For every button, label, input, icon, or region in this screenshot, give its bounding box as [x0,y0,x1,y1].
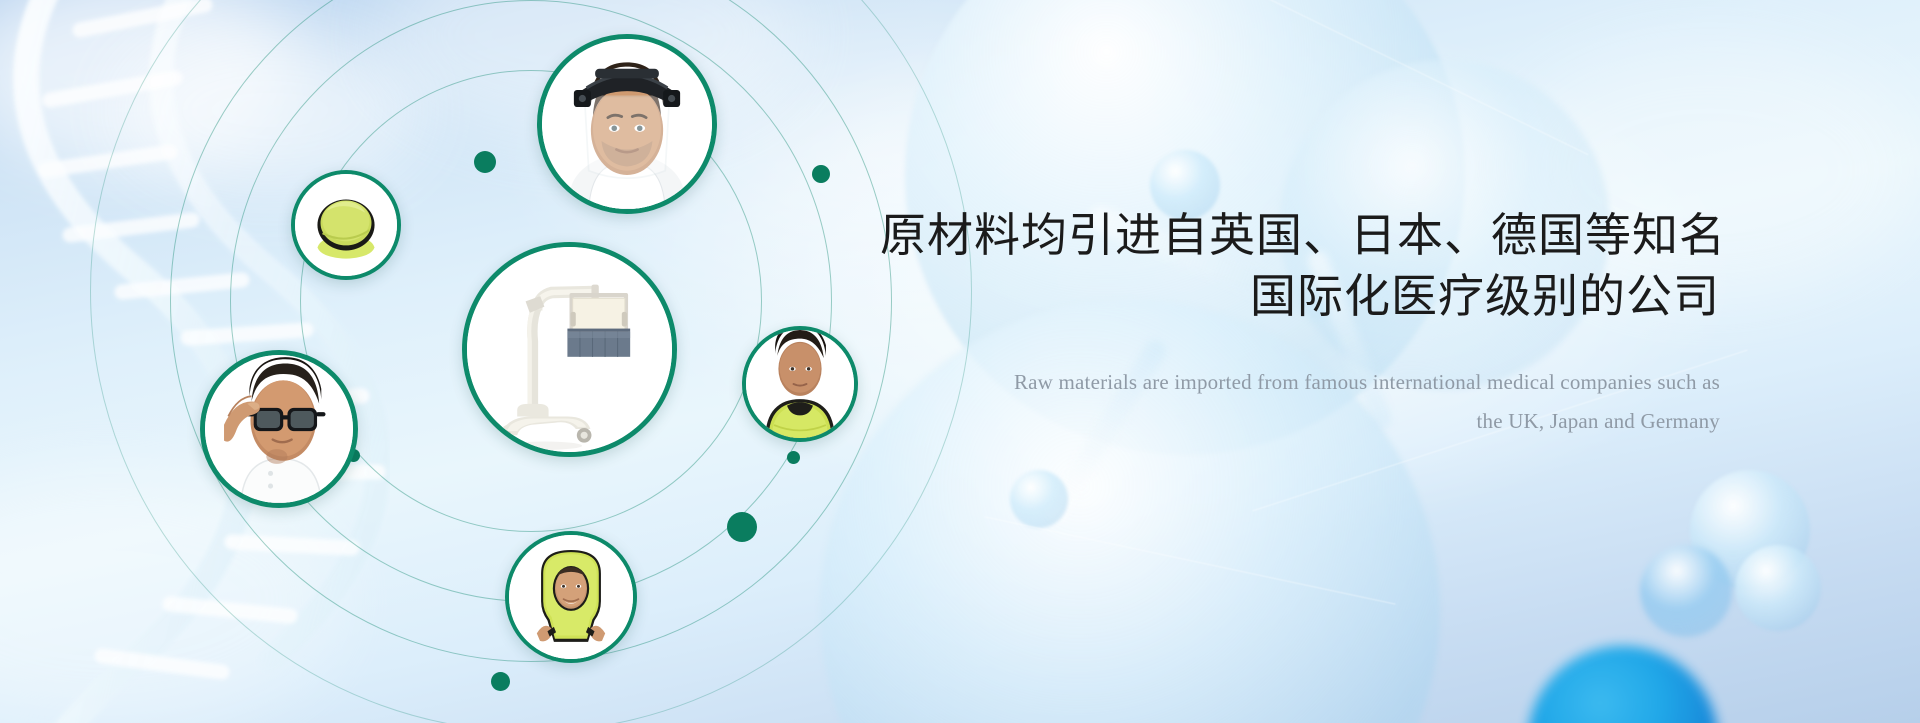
orbit-dot [491,672,510,691]
orbit-dot [727,512,757,542]
mobile-x-ray-shield-icon [467,247,672,452]
hero-copy: 原材料均引进自英国、日本、德国等知名 国际化医疗级别的公司 Raw materi… [880,205,1720,441]
lead-glasses-icon [205,355,353,503]
molecule-sphere [1640,545,1732,637]
subcopy-line-1: Raw materials are imported from famous i… [1014,370,1720,394]
subcopy-line-2: the UK, Japan and Germany [880,402,1720,441]
blue-accent-orb [1528,646,1718,723]
subcopy: Raw materials are imported from famous i… [880,363,1720,441]
orbit-dot [474,151,496,173]
molecule-sphere [1010,470,1068,528]
face-shield-mask-icon [542,39,712,209]
orbit-dot [787,451,800,464]
molecule-sphere [1690,470,1810,590]
background-hairline [1202,0,1589,155]
molecule-sphere [1735,545,1821,631]
headline-line-1: 原材料均引进自英国、日本、德国等知名 [880,209,1726,261]
protective-hood-icon [509,535,633,659]
headline: 原材料均引进自英国、日本、德国等知名 国际化医疗级别的公司 [880,205,1720,327]
product-bubble-face-shield-mask[interactable] [537,34,717,214]
product-bubble-thyroid-collar[interactable] [742,326,858,442]
orbit-dot [812,165,830,183]
product-bubble-protective-hood[interactable] [505,531,637,663]
headline-line-2: 国际化医疗级别的公司 [880,266,1720,327]
hero-banner: 原材料均引进自英国、日本、德国等知名 国际化医疗级别的公司 Raw materi… [0,0,1920,723]
product-bubble-protective-cap[interactable] [291,170,401,280]
background-hairline [984,516,1395,604]
product-bubble-mobile-x-ray-shield[interactable] [462,242,677,457]
product-bubble-lead-glasses[interactable] [200,350,358,508]
thyroid-collar-icon [746,330,854,438]
protective-cap-icon [295,174,397,276]
